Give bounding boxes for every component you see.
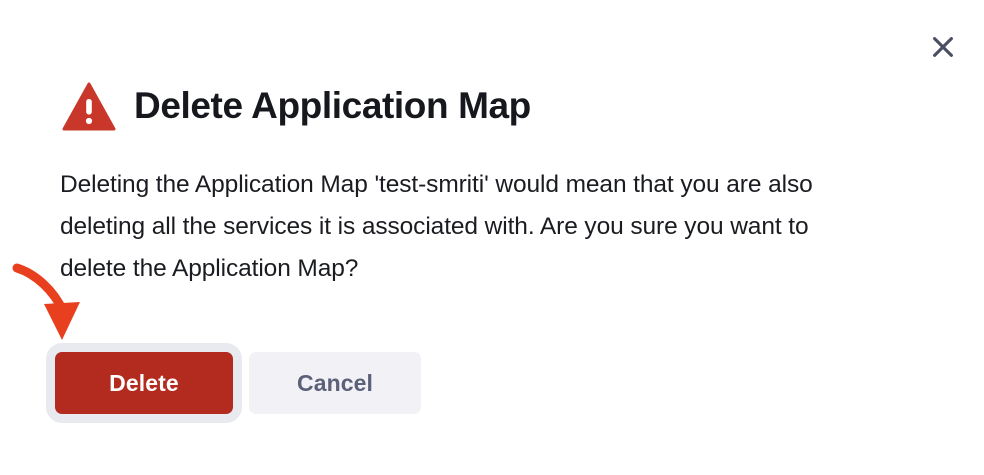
dialog-body-line-3: delete the Application Map? [60, 248, 944, 290]
warning-triangle-icon [62, 80, 116, 134]
close-icon [932, 36, 954, 58]
close-dialog-button[interactable] [924, 28, 962, 66]
page-title: Delete Application Map [134, 87, 531, 124]
dialog-body: Deleting the Application Map 'test-smrit… [60, 164, 944, 290]
delete-button[interactable]: Delete [55, 352, 233, 414]
dialog-actions: Delete Cancel [55, 352, 421, 414]
cancel-button[interactable]: Cancel [249, 352, 421, 414]
dialog-header: Delete Application Map [62, 62, 531, 149]
delete-application-map-dialog: Delete Application Map Deleting the Appl… [0, 0, 984, 475]
dialog-body-line-1: Deleting the Application Map 'test-smrit… [60, 164, 944, 206]
dialog-body-line-2: deleting all the services it is associat… [60, 206, 944, 248]
